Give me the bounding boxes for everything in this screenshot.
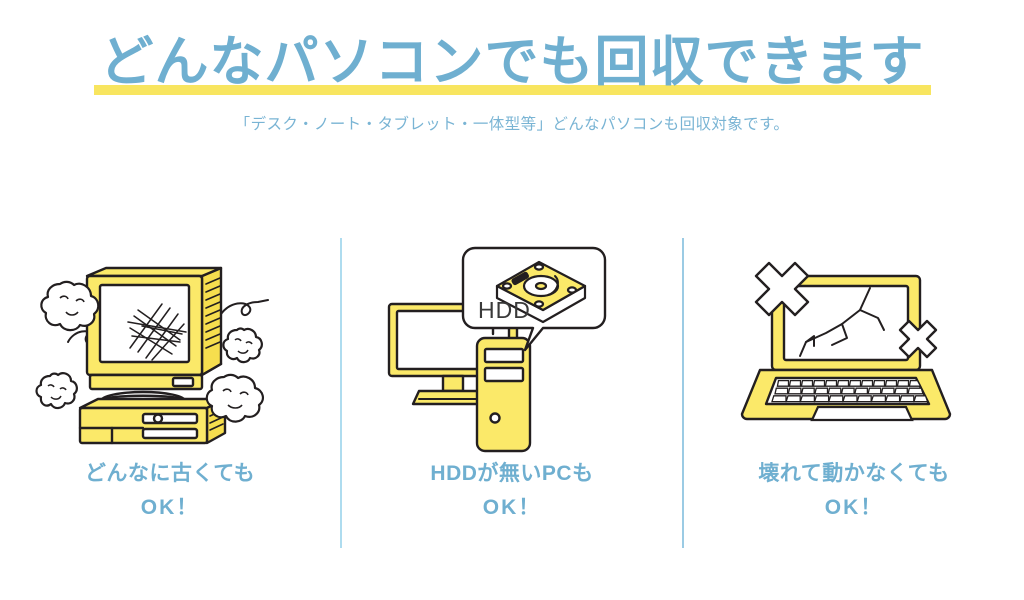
feature-caption-old-pc: どんなに古くても OK！ — [85, 457, 255, 525]
feature-column-broken-pc: 壊れて動かなくても OK！ — [684, 238, 1024, 548]
feature-column-old-pc: どんなに古くても OK！ — [0, 238, 340, 548]
page-title: どんなパソコンでも回収できます — [100, 34, 925, 91]
caption-line-1: HDDが無いPCも — [430, 462, 593, 485]
desktop-tower-with-hdd-callout-icon: HDD — [367, 238, 657, 453]
caption-line-2: OK！ — [85, 491, 255, 525]
hdd-tower-illustration: HDD — [342, 238, 682, 453]
hdd-callout-label: HDD — [478, 297, 531, 323]
caption-line-2: OK！ — [430, 491, 593, 525]
page-header: どんなパソコンでも回収できます 「デスク・ノート・タブレット・一体型等」どんなパ… — [0, 0, 1024, 135]
feature-column-no-hdd: HDD HDDが無いPCも OK！ — [342, 238, 682, 548]
page-title-wrap: どんなパソコンでも回収できます — [94, 34, 931, 91]
feature-columns: どんなに古くても OK！ — [0, 238, 1024, 548]
page-subtitle: 「デスク・ノート・タブレット・一体型等」どんなパソコンも回収対象です。 — [0, 114, 1024, 136]
caption-line-2: OK！ — [758, 491, 949, 525]
caption-line-1: 壊れて動かなくても — [758, 462, 949, 485]
feature-caption-no-hdd: HDDが無いPCも OK！ — [430, 457, 593, 525]
old-crt-desktop-computer-with-dust-icon — [30, 238, 310, 453]
broken-laptop-illustration — [684, 238, 1024, 453]
old-crt-illustration — [0, 238, 340, 453]
feature-caption-broken-pc: 壊れて動かなくても OK！ — [758, 457, 949, 525]
broken-laptop-cracked-screen-icon — [714, 238, 994, 453]
caption-line-1: どんなに古くても — [85, 462, 255, 485]
